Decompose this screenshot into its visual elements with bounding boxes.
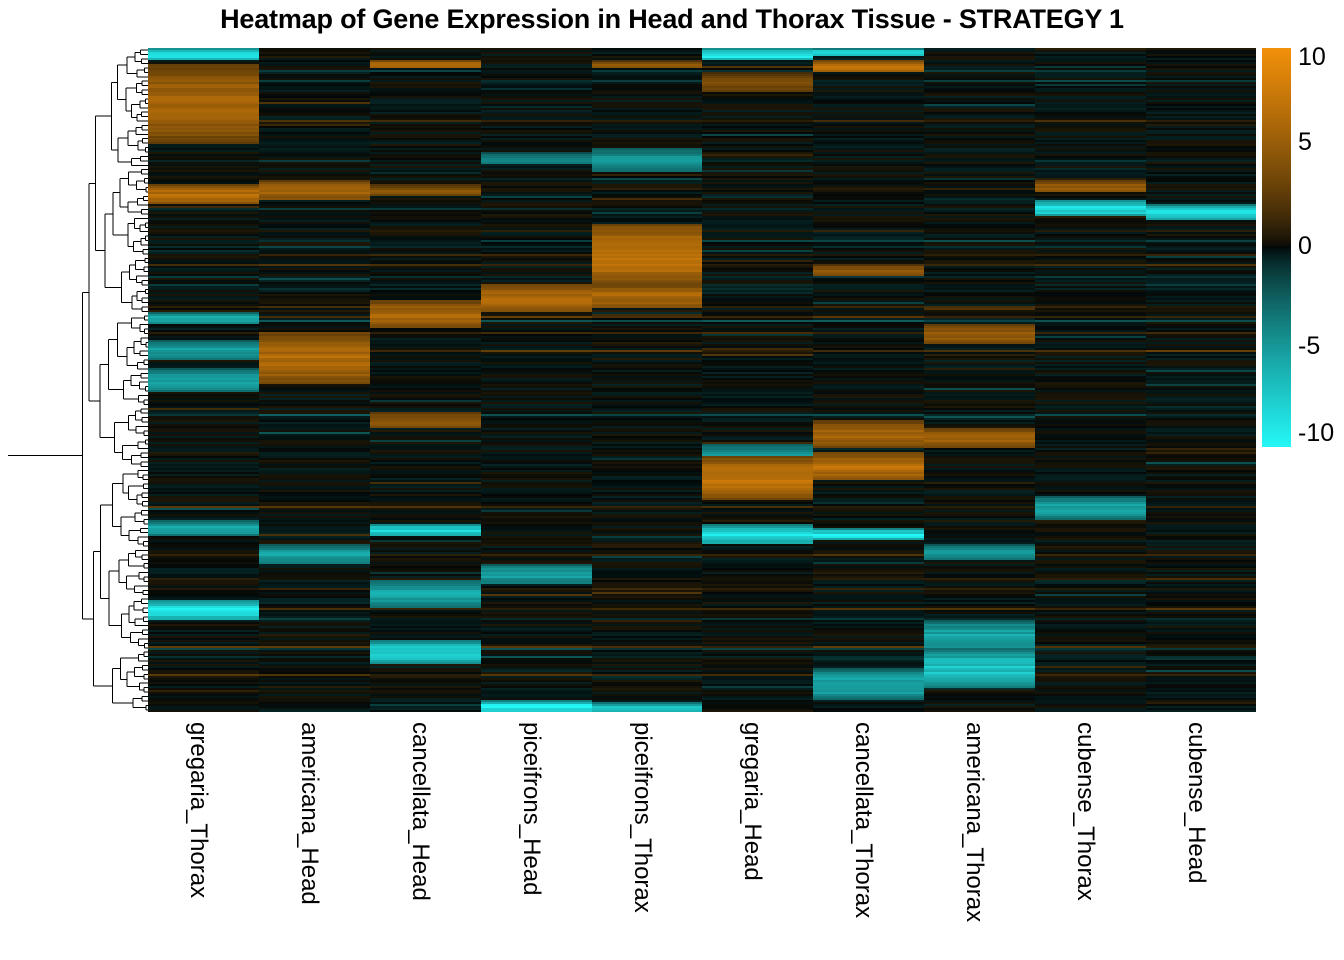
column-label-piceifrons-thorax: piceifrons_Thorax (628, 722, 656, 913)
colorbar-tick-5: 5 (1298, 130, 1312, 155)
colorbar-tick-neg5: -5 (1298, 334, 1320, 359)
column-label-piceifrons-head: piceifrons_Head (517, 722, 545, 895)
colorbar-tick-0: 0 (1298, 234, 1312, 259)
column-label-cancellata-thorax: cancellata_Thorax (849, 722, 877, 918)
row-dendrogram (6, 48, 148, 712)
colorbar-tick-neg10: -10 (1298, 421, 1334, 446)
colorbar (1262, 48, 1291, 447)
heatmap-panel[interactable] (148, 48, 1256, 712)
column-label-gregaria-head: gregaria_Head (738, 722, 766, 881)
column-label-americana-thorax: americana_Thorax (960, 722, 988, 922)
heatmap-canvas[interactable] (148, 48, 1256, 712)
column-label-americana-head: americana_Head (295, 722, 323, 905)
column-label-gregaria-thorax: gregaria_Thorax (184, 722, 212, 898)
colorbar-tick-10: 10 (1298, 45, 1326, 70)
column-label-cancellata-head: cancellata_Head (406, 722, 434, 901)
page-title: Heatmap of Gene Expression in Head and T… (0, 4, 1344, 35)
colorbar-gradient (1262, 48, 1291, 447)
heatmap-figure: Heatmap of Gene Expression in Head and T… (0, 0, 1344, 960)
dendrogram-branches (8, 50, 148, 710)
dendrogram-svg (6, 48, 148, 712)
column-label-cubense-thorax: cubense_Thorax (1071, 722, 1099, 901)
column-label-cubense-head: cubense_Head (1182, 722, 1210, 883)
